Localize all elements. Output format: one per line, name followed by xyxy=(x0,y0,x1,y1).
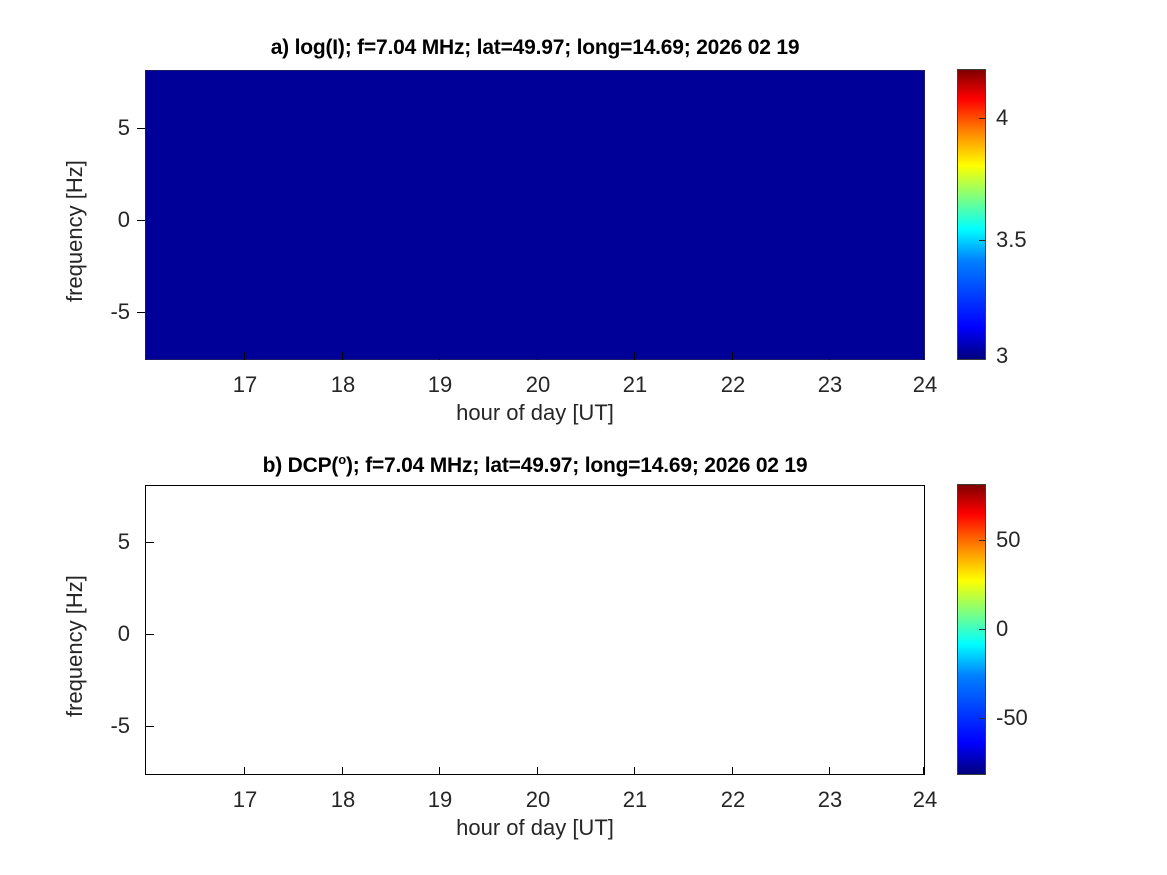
panel-b-ytick-neg5 xyxy=(146,726,154,727)
panel-a-xticklabel-21: 21 xyxy=(623,372,647,398)
panel-b-xticklabel-24: 24 xyxy=(913,787,937,813)
panel-b-xticklabel-17: 17 xyxy=(233,787,257,813)
panel-a-ytick-neg5 xyxy=(137,312,145,313)
panel-a-heatmap-surface xyxy=(146,71,924,359)
panel-a-xtick-17 xyxy=(244,352,245,360)
panel-b-yticklabel-neg5: -5 xyxy=(90,713,130,739)
panel-b-colorbar-tick-50 xyxy=(979,540,985,541)
panel-a-xticklabel-20: 20 xyxy=(526,372,550,398)
panel-a-colorbar-label-3: 3 xyxy=(996,343,1008,369)
panel-a-ytick-0 xyxy=(137,220,145,221)
panel-b-yticklabel-0: 0 xyxy=(98,621,130,647)
panel-b-title: b) DCP(o); f=7.04 MHz; lat=49.97; long=1… xyxy=(145,452,925,478)
panel-b-xlabel: hour of day [UT] xyxy=(145,815,925,841)
panel-a-colorbar xyxy=(957,69,986,360)
panel-a-axes xyxy=(145,70,925,360)
panel-b-ytick-5 xyxy=(146,542,154,543)
panel-a-xtick-23 xyxy=(829,352,830,360)
panel-a-xtick-22 xyxy=(732,352,733,360)
panel-b-xticklabel-19: 19 xyxy=(428,787,452,813)
panel-b-ylabel: frequency [Hz] xyxy=(62,575,88,717)
panel-a-xticklabel-24: 24 xyxy=(913,372,937,398)
panel-a-xtick-24 xyxy=(923,352,924,360)
panel-a-colorbar-label-3p5: 3.5 xyxy=(996,227,1027,253)
panel-b-xticklabel-22: 22 xyxy=(721,787,745,813)
panel-b-xtick-23 xyxy=(829,767,830,775)
panel-b-xticklabel-23: 23 xyxy=(818,787,842,813)
panel-b-xtick-20 xyxy=(537,767,538,775)
panel-a-xticklabel-19: 19 xyxy=(428,372,452,398)
panel-b-xticklabel-18: 18 xyxy=(331,787,355,813)
panel-a-xtick-20 xyxy=(537,352,538,360)
panel-a-ylabel: frequency [Hz] xyxy=(62,160,88,302)
panel-a-colorbar-tick-3p5 xyxy=(979,240,985,241)
panel-b-xtick-21 xyxy=(634,767,635,775)
panel-a-colorbar-label-4: 4 xyxy=(996,105,1008,131)
panel-a-xticklabel-18: 18 xyxy=(331,372,355,398)
panel-a-xtick-19 xyxy=(439,352,440,360)
panel-a-xlabel: hour of day [UT] xyxy=(145,400,925,426)
panel-b-title-part2: ); f=7.04 MHz; lat=49.97; long=14.69; 20… xyxy=(346,454,807,477)
panel-b-title-part1: b) DCP( xyxy=(263,454,339,477)
panel-a-yticklabel-neg5: -5 xyxy=(90,299,130,325)
panel-a-yticklabel-0: 0 xyxy=(98,207,130,233)
panel-b-xtick-24 xyxy=(923,767,924,775)
panel-b-yticklabel-5: 5 xyxy=(98,529,130,555)
figure-canvas: a) log(I); f=7.04 MHz; lat=49.97; long=1… xyxy=(0,0,1167,875)
panel-b-xtick-18 xyxy=(342,767,343,775)
panel-b-colorbar-tick-0 xyxy=(979,629,985,630)
panel-b-axes xyxy=(145,485,925,775)
panel-b-colorbar-label-0: 0 xyxy=(996,616,1008,642)
panel-a-colorbar-tick-4 xyxy=(979,118,985,119)
panel-a-ytick-5 xyxy=(137,128,145,129)
panel-b-xticklabel-20: 20 xyxy=(526,787,550,813)
panel-b-title-degree-superscript: o xyxy=(338,452,346,467)
panel-a-xticklabel-23: 23 xyxy=(818,372,842,398)
panel-a-xtick-18 xyxy=(342,352,343,360)
panel-a-colorbar-gradient xyxy=(958,70,985,359)
panel-b-xticklabel-21: 21 xyxy=(623,787,647,813)
panel-a-xticklabel-17: 17 xyxy=(233,372,257,398)
panel-b-xtick-22 xyxy=(732,767,733,775)
panel-b-colorbar-tick-neg50 xyxy=(979,718,985,719)
panel-b-colorbar-label-50: 50 xyxy=(996,527,1020,553)
panel-b-colorbar-label-neg50: -50 xyxy=(996,705,1028,731)
panel-a-title: a) log(I); f=7.04 MHz; lat=49.97; long=1… xyxy=(145,36,925,60)
panel-b-ytick-0 xyxy=(146,634,154,635)
panel-a-xticklabel-22: 22 xyxy=(721,372,745,398)
panel-b-xtick-19 xyxy=(439,767,440,775)
panel-a-yticklabel-5: 5 xyxy=(98,115,130,141)
panel-a-xtick-21 xyxy=(634,352,635,360)
panel-b-heatmap-surface xyxy=(146,486,924,774)
panel-b-xtick-17 xyxy=(244,767,245,775)
